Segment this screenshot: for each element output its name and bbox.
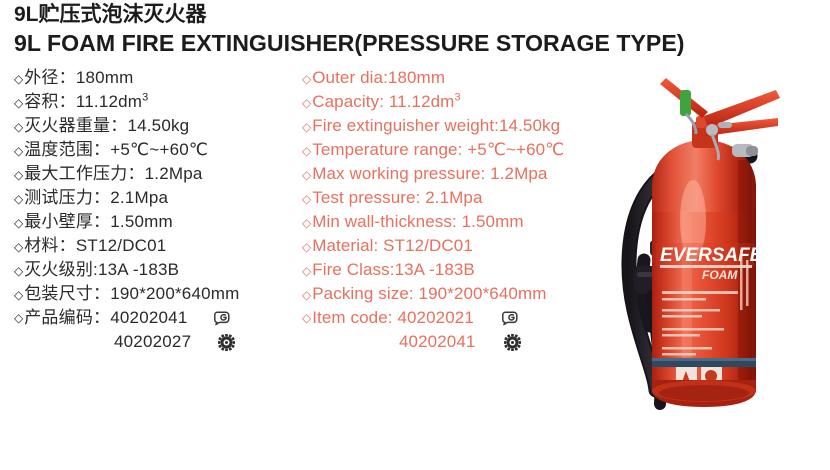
spec-value: 40202021 bbox=[397, 308, 473, 327]
spec-value: 190*200*640mm bbox=[419, 284, 547, 303]
spec-separator: ： bbox=[127, 164, 144, 183]
spec-label-value: 材料：ST12/DC01 bbox=[24, 234, 166, 258]
spec-label: 温度范围 bbox=[24, 140, 93, 159]
spec-label: Test pressure bbox=[312, 188, 415, 207]
spec-label-value: 灭火级别:13A -183B bbox=[24, 258, 179, 282]
spec-separator: ： bbox=[59, 236, 76, 255]
spec-label-value: 最小壁厚：1.50mm bbox=[24, 210, 173, 234]
bullet-icon: ◇ bbox=[14, 115, 23, 139]
spec-separator: ： bbox=[110, 116, 127, 135]
spec-row: ◇包装尺寸：190*200*640mm bbox=[14, 282, 304, 306]
spec-row: ◇外径：180mm bbox=[14, 66, 304, 90]
spec-value: ST12/DC01 bbox=[383, 236, 473, 255]
spec-label: Outer dia bbox=[312, 68, 383, 87]
spec-row: ◇Min wall-thickness: 1.50mm bbox=[302, 210, 612, 234]
spec-row: ◇Outer dia:180mm bbox=[302, 66, 612, 90]
spec-label: Min wall-thickness bbox=[312, 212, 452, 231]
spec-label-value: 最大工作压力：1.2Mpa bbox=[24, 162, 202, 186]
spec-value: ST12/DC01 bbox=[76, 236, 167, 255]
spec-value: +5℃~+60℃ bbox=[467, 140, 564, 159]
spec-separator: ： bbox=[59, 68, 76, 87]
spec-separator: : bbox=[458, 140, 468, 159]
spec-label: Packing size bbox=[312, 284, 409, 303]
spec-separator: ： bbox=[93, 140, 110, 159]
spec-label-value: Fire Class:13A -183B bbox=[312, 258, 475, 282]
spec-value: 11.12dm bbox=[76, 92, 142, 111]
spec-row: ◇最大工作压力：1.2Mpa bbox=[14, 162, 304, 186]
gear-icon bbox=[501, 332, 523, 352]
spec-label: 材料 bbox=[24, 236, 58, 255]
spec-label-value: 温度范围：+5℃~+60℃ bbox=[24, 138, 208, 162]
spec-value: 1.2Mpa bbox=[145, 164, 203, 183]
bullet-icon: ◇ bbox=[302, 306, 311, 330]
spec-column-english: ◇Outer dia:180mm◇Capacity: 11.12dm3◇Fire… bbox=[302, 66, 612, 354]
base-ring bbox=[652, 380, 756, 407]
bullet-icon: ◇ bbox=[14, 283, 23, 307]
spec-label-value: 测试压力：2.1Mpa bbox=[24, 186, 168, 210]
spec-value-secondary: 40202027 bbox=[114, 330, 191, 354]
spec-label-value: Test pressure: 2.1Mpa bbox=[312, 186, 482, 210]
bullet-icon: ◇ bbox=[14, 187, 23, 211]
product-photo-fire-extinguisher: EVERSAFE FOAM bbox=[600, 60, 830, 470]
spec-separator: : bbox=[379, 92, 389, 111]
spec-label-value: Temperature range: +5℃~+60℃ bbox=[312, 138, 564, 162]
spec-label-value: Packing size: 190*200*640mm bbox=[312, 282, 546, 306]
spec-row: ◇温度范围：+5℃~+60℃ bbox=[14, 138, 304, 162]
spec-label: 外径 bbox=[24, 68, 58, 87]
spec-row: ◇Fire extinguisher weight:14.50kg bbox=[302, 114, 612, 138]
spec-value: 40202041 bbox=[110, 308, 187, 327]
spec-label-value: 外径：180mm bbox=[24, 66, 133, 90]
spec-label: Item code bbox=[312, 308, 388, 327]
spec-label-value: Max working pressure: 1.2Mpa bbox=[312, 162, 547, 186]
spec-row: ◇灭火器重量：14.50kg bbox=[14, 114, 304, 138]
bullet-icon: ◇ bbox=[14, 306, 23, 330]
spec-label-value: 产品编码：40202041 bbox=[24, 306, 187, 330]
spec-value: 14.50kg bbox=[499, 116, 560, 135]
bullet-icon: ◇ bbox=[302, 211, 311, 235]
bullet-icon: ◇ bbox=[14, 259, 23, 283]
bullet-icon: ◇ bbox=[302, 187, 311, 211]
spec-label: Temperature range bbox=[312, 140, 457, 159]
bullet-icon: ◇ bbox=[302, 283, 311, 307]
spec-label: Material bbox=[312, 236, 373, 255]
spec-value: 1.50mm bbox=[110, 212, 173, 231]
bullet-icon: ◇ bbox=[302, 235, 311, 259]
spec-label-value: Outer dia:180mm bbox=[312, 66, 445, 90]
spec-value: 1.50mm bbox=[462, 212, 524, 231]
spec-separator: : bbox=[409, 284, 419, 303]
spec-row-secondary-code: 40202041 bbox=[302, 330, 612, 354]
spec-label-value: Capacity: 11.12dm3 bbox=[312, 90, 460, 114]
spec-label-value: Material: ST12/DC01 bbox=[312, 234, 473, 258]
spec-value: +5℃~+60℃ bbox=[110, 140, 208, 159]
bullet-icon: ◇ bbox=[14, 139, 23, 163]
spec-label-value: 包装尺寸：190*200*640mm bbox=[24, 282, 239, 306]
spec-separator: ： bbox=[59, 92, 76, 111]
spec-label-value: Item code: 40202021 bbox=[312, 306, 474, 330]
bullet-icon: ◇ bbox=[14, 67, 23, 91]
bullet-icon: ◇ bbox=[14, 163, 23, 187]
spec-row: ◇产品编码：40202041 bbox=[14, 306, 304, 330]
spec-row: ◇容积：11.12dm3 bbox=[14, 90, 304, 114]
spec-row: ◇Item code: 40202021 bbox=[302, 306, 612, 330]
spec-separator: : bbox=[416, 188, 426, 207]
spec-label-value: Min wall-thickness: 1.50mm bbox=[312, 210, 523, 234]
spec-value: 180mm bbox=[76, 68, 134, 87]
spec-separator: ： bbox=[93, 284, 110, 303]
spec-label: Fire Class bbox=[312, 260, 390, 279]
spec-column-chinese: ◇外径：180mm◇容积：11.12dm3◇灭火器重量：14.50kg◇温度范围… bbox=[14, 66, 304, 354]
spec-value: 11.12dm bbox=[389, 92, 455, 111]
bullet-icon: ◇ bbox=[302, 115, 311, 139]
spec-value: 180mm bbox=[388, 68, 445, 87]
spec-row-secondary-code: 40202027 bbox=[14, 330, 304, 354]
bullet-icon: ◇ bbox=[302, 67, 311, 91]
spec-separator: : bbox=[481, 164, 491, 183]
spec-value: 2.1Mpa bbox=[425, 188, 482, 207]
title-block: 9L贮压式泡沫灭火器 9L FOAM FIRE EXTINGUISHER(PRE… bbox=[14, 2, 824, 58]
spec-label: 灭火器重量 bbox=[24, 116, 110, 135]
spec-label: 容积 bbox=[24, 92, 58, 111]
spec-row: ◇Capacity: 11.12dm3 bbox=[302, 90, 612, 114]
spec-row: ◇Fire Class:13A -183B bbox=[302, 258, 612, 282]
bullet-icon: ◇ bbox=[14, 235, 23, 259]
spec-label: Fire extinguisher weight bbox=[312, 116, 494, 135]
spec-label: 产品编码 bbox=[24, 308, 93, 327]
spec-label: 最小壁厚 bbox=[24, 212, 93, 231]
spec-separator: ： bbox=[93, 188, 110, 207]
spec-label: 包装尺寸 bbox=[24, 284, 93, 303]
spec-label: Capacity bbox=[312, 92, 379, 111]
spec-label: 测试压力 bbox=[24, 188, 93, 207]
spec-label-value: 灭火器重量：14.50kg bbox=[24, 114, 189, 138]
spec-value: 1.2Mpa bbox=[490, 164, 547, 183]
spec-separator: ： bbox=[93, 308, 110, 327]
spec-row: ◇最小壁厚：1.50mm bbox=[14, 210, 304, 234]
strap-band bbox=[652, 358, 756, 367]
spec-label: Max working pressure bbox=[312, 164, 480, 183]
spec-label-value: Fire extinguisher weight:14.50kg bbox=[312, 114, 560, 138]
spec-row: ◇测试压力：2.1Mpa bbox=[14, 186, 304, 210]
spec-value-superscript: 3 bbox=[142, 91, 148, 103]
bullet-icon: ◇ bbox=[14, 211, 23, 235]
logo-tag-icon bbox=[500, 308, 522, 328]
spec-row: ◇Material: ST12/DC01 bbox=[302, 234, 612, 258]
bullet-icon: ◇ bbox=[302, 139, 311, 163]
gear-icon bbox=[215, 332, 237, 352]
spec-value-secondary: 40202041 bbox=[399, 330, 475, 354]
spec-label: 最大工作压力 bbox=[24, 164, 127, 183]
spec-separator: ： bbox=[93, 212, 110, 231]
spec-label: 灭火级别 bbox=[24, 260, 93, 279]
spec-row: ◇Temperature range: +5℃~+60℃ bbox=[302, 138, 612, 162]
spec-row: ◇灭火级别:13A -183B bbox=[14, 258, 304, 282]
safety-pin bbox=[680, 90, 691, 116]
bullet-icon: ◇ bbox=[302, 259, 311, 283]
spec-separator: : bbox=[374, 236, 384, 255]
spec-separator: : bbox=[388, 308, 398, 327]
page-title-chinese: 9L贮压式泡沫灭火器 bbox=[14, 2, 824, 28]
spec-value: 2.1Mpa bbox=[110, 188, 168, 207]
spec-value: 13A -183B bbox=[395, 260, 475, 279]
spec-row: ◇Packing size: 190*200*640mm bbox=[302, 282, 612, 306]
bullet-icon: ◇ bbox=[302, 91, 311, 115]
bullet-icon: ◇ bbox=[302, 163, 311, 187]
logo-tag-icon bbox=[212, 308, 234, 328]
spec-value-superscript: 3 bbox=[454, 91, 460, 103]
page-title-english: 9L FOAM FIRE EXTINGUISHER(PRESSURE STORA… bbox=[14, 29, 812, 58]
spec-value: 14.50kg bbox=[127, 116, 189, 135]
spec-row: ◇Max working pressure: 1.2Mpa bbox=[302, 162, 612, 186]
sub-brand-name: FOAM bbox=[702, 268, 738, 282]
bullet-icon: ◇ bbox=[14, 91, 23, 115]
spec-row: ◇材料：ST12/DC01 bbox=[14, 234, 304, 258]
spec-label-value: 容积：11.12dm3 bbox=[24, 90, 148, 114]
spec-value: 13A -183B bbox=[98, 260, 179, 279]
spec-row: ◇Test pressure: 2.1Mpa bbox=[302, 186, 612, 210]
spec-separator: : bbox=[452, 212, 462, 231]
spec-value: 190*200*640mm bbox=[110, 284, 239, 303]
